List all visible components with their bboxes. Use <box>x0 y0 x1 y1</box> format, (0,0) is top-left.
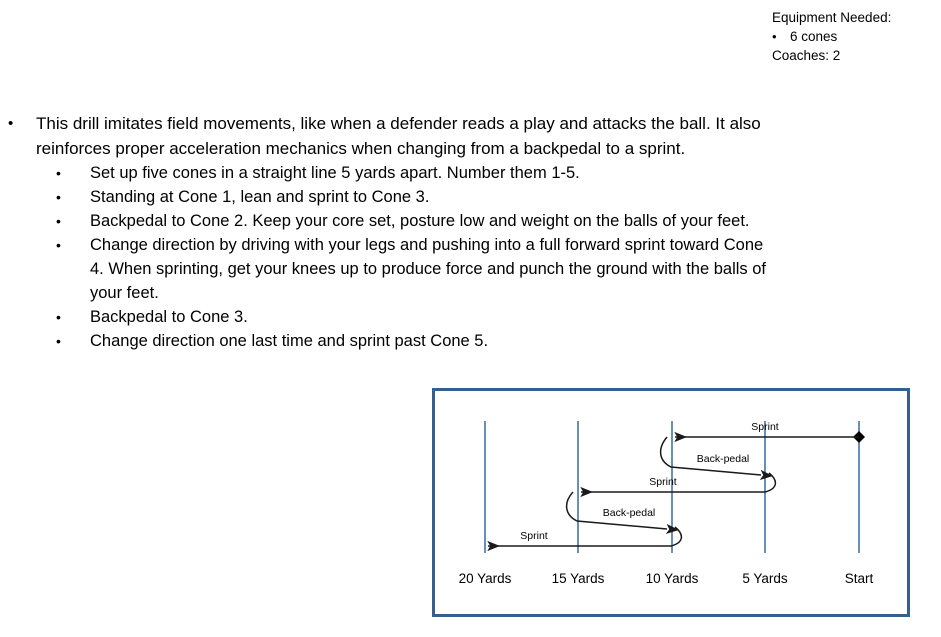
backpedal-1-label: Back-pedal <box>697 453 750 465</box>
intro-text: This drill imitates field movements, lik… <box>36 112 820 161</box>
cone-label-start: Start <box>845 571 874 586</box>
step-text: Change direction by driving with your le… <box>90 233 820 305</box>
backpedal-2-label: Back-pedal <box>603 507 656 519</box>
cone-label-5-yards: 5 Yards <box>742 571 788 586</box>
bullet-icon: • <box>0 185 90 209</box>
sprint-2-label: Sprint <box>649 476 677 488</box>
sprint-3-arrow <box>488 527 681 546</box>
step-text: Change direction one last time and sprin… <box>90 329 820 353</box>
equipment-title: Equipment Needed: <box>772 8 937 27</box>
bullet-icon: • <box>772 27 790 46</box>
equipment-item-row: • 6 cones <box>772 27 937 46</box>
list-item: • Change direction by driving with your … <box>0 233 820 305</box>
sprint-3-label: Sprint <box>520 530 548 542</box>
bullet-icon: • <box>0 329 90 353</box>
drill-diagram-panel: Sprint Back-pedal Sprint Back-pedal Spri… <box>432 388 910 617</box>
drill-diagram: Sprint Back-pedal Sprint Back-pedal Spri… <box>435 391 907 614</box>
step-text: Standing at Cone 1, lean and sprint to C… <box>90 185 820 209</box>
sprint-1-label: Sprint <box>751 421 779 433</box>
bullet-icon: • <box>0 209 90 233</box>
drill-description: • This drill imitates field movements, l… <box>0 112 820 353</box>
equipment-item-label: 6 cones <box>790 27 837 46</box>
cone-label-15-yards: 15 Yards <box>552 571 605 586</box>
step-text: Set up five cones in a straight line 5 y… <box>90 161 820 185</box>
sprint-2-arrow <box>581 473 775 492</box>
list-item: • Backpedal to Cone 3. <box>0 305 820 329</box>
bullet-icon: • <box>0 161 90 185</box>
coaches-label: Coaches: 2 <box>772 46 937 65</box>
bullet-icon: • <box>0 305 90 329</box>
cone-label-20-yards: 20 Yards <box>459 571 512 586</box>
list-item: • Change direction one last time and spr… <box>0 329 820 353</box>
bullet-icon: • <box>0 112 36 137</box>
equipment-block: Equipment Needed: • 6 cones Coaches: 2 <box>772 8 937 65</box>
list-item: • Standing at Cone 1, lean and sprint to… <box>0 185 820 209</box>
step-text: Backpedal to Cone 3. <box>90 305 820 329</box>
step-text: Backpedal to Cone 2. Keep your core set,… <box>90 209 820 233</box>
intro-bullet: • This drill imitates field movements, l… <box>0 112 820 161</box>
cone-label-10-yards: 10 Yards <box>646 571 699 586</box>
bullet-icon: • <box>0 233 90 257</box>
step-list: • Set up five cones in a straight line 5… <box>0 161 820 353</box>
list-item: • Set up five cones in a straight line 5… <box>0 161 820 185</box>
list-item: • Backpedal to Cone 2. Keep your core se… <box>0 209 820 233</box>
